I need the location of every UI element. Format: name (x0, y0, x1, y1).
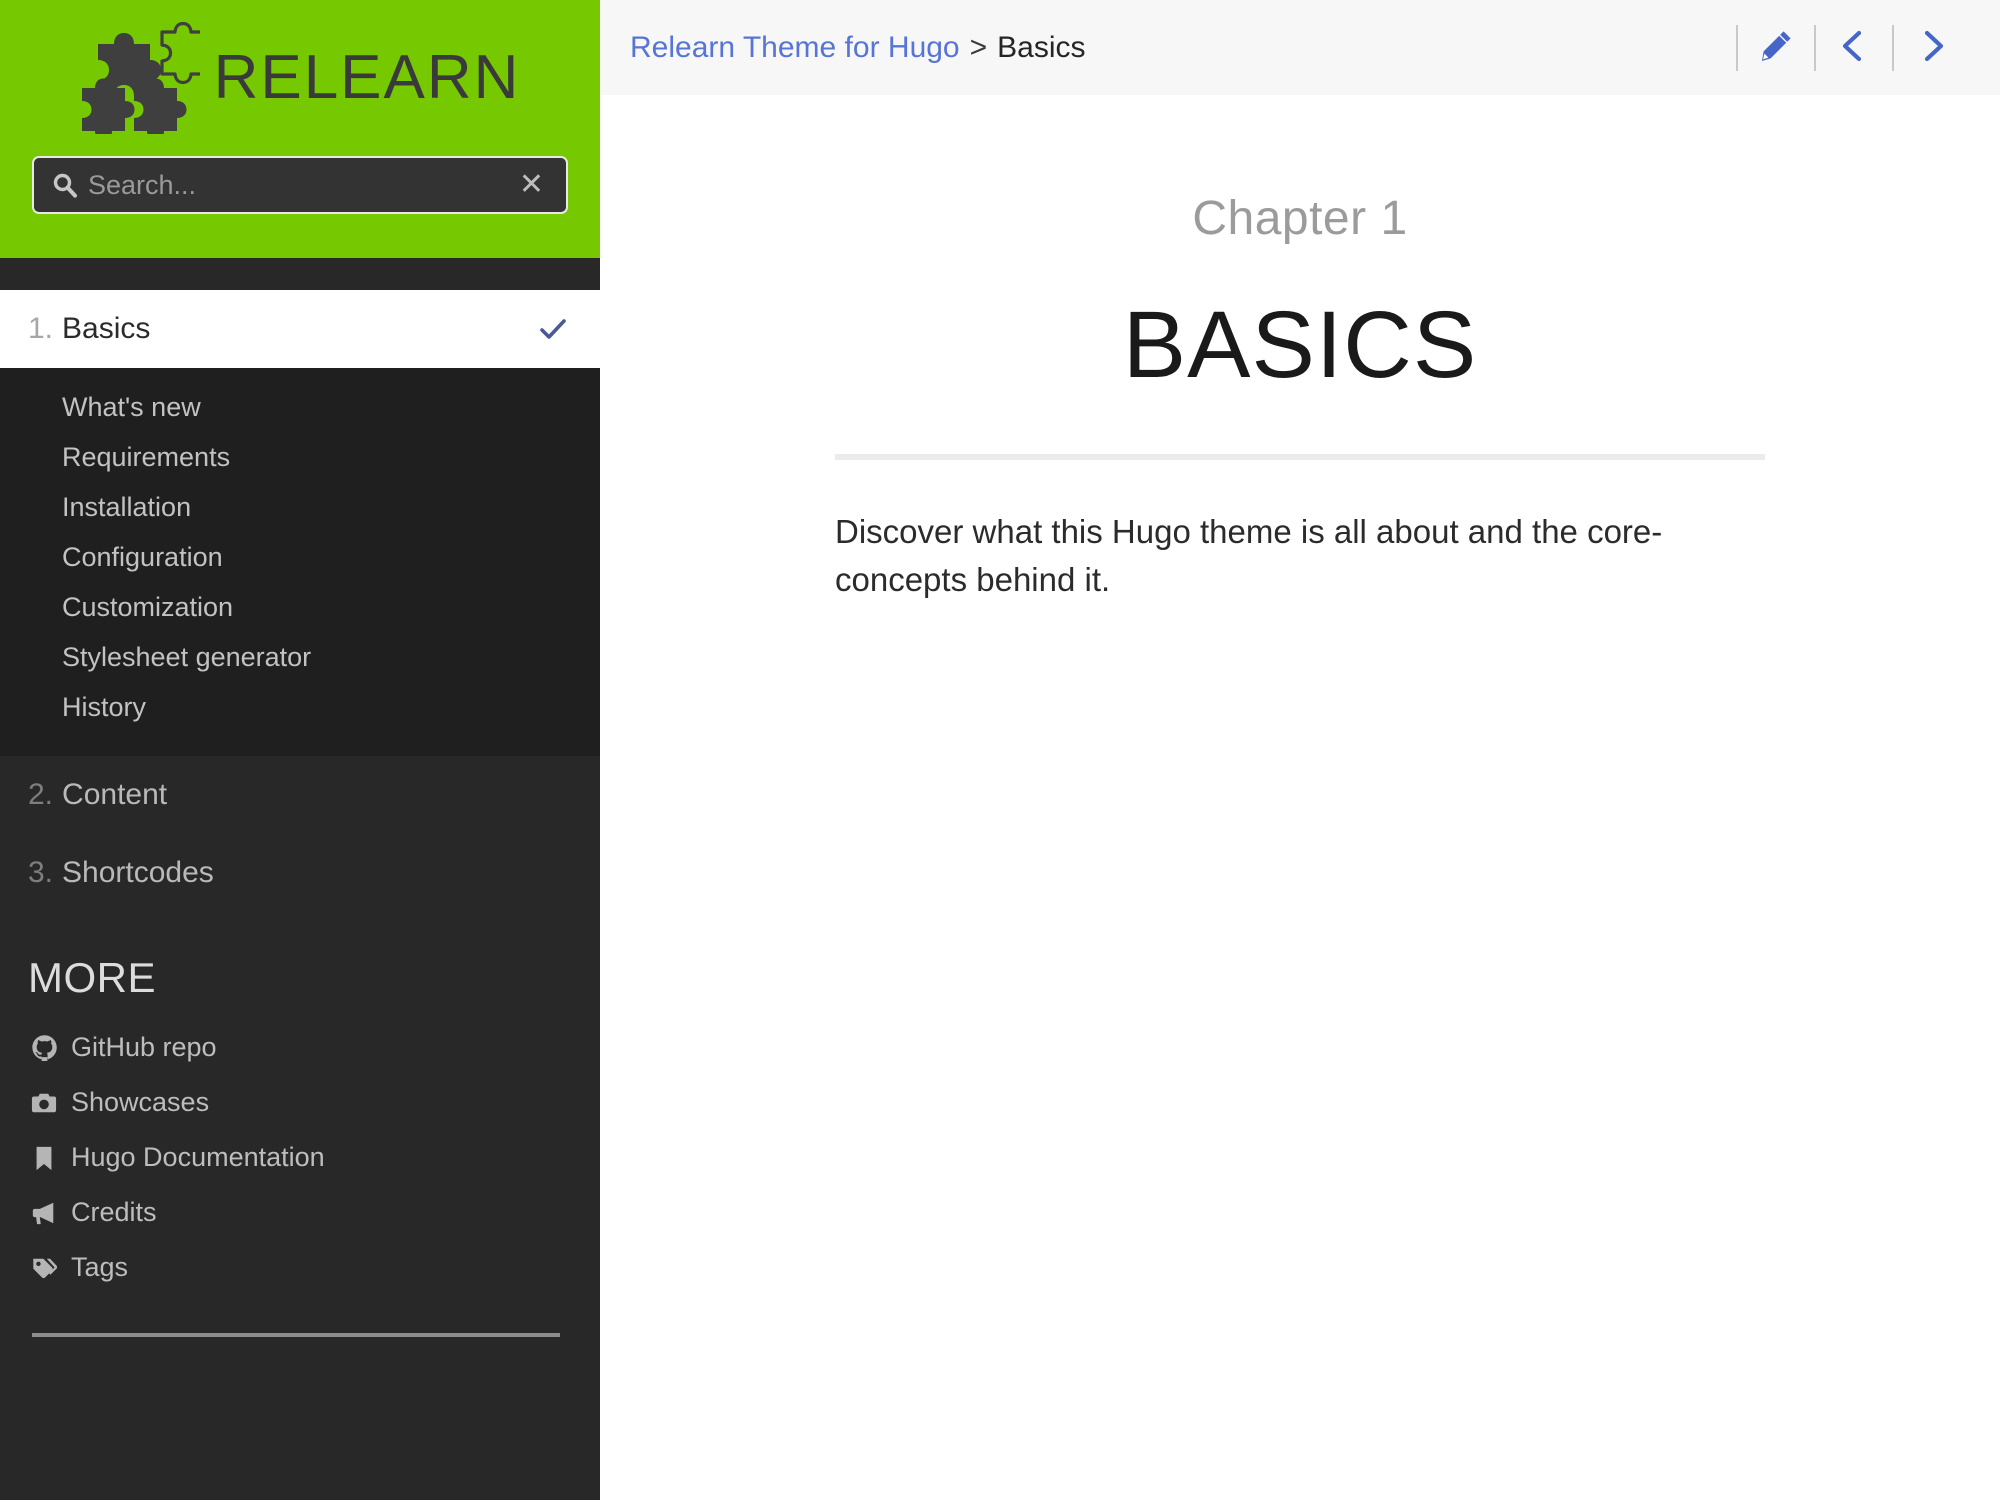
sidebar: RELEARN ✕ 1. (0, 0, 600, 1500)
breadcrumb-parent-link[interactable]: Relearn Theme for Hugo (630, 31, 960, 65)
submenu-label: Stylesheet generator (62, 642, 311, 673)
breadcrumb-current: Basics (997, 31, 1085, 65)
sidebar-link-credits[interactable]: Credits (0, 1185, 600, 1240)
main-region: Relearn Theme for Hugo > Basics (600, 0, 2000, 1500)
check-icon (538, 314, 568, 344)
next-page-button[interactable] (1894, 18, 1970, 78)
sidebar-item-installation[interactable]: Installation (0, 482, 600, 532)
topbar: Relearn Theme for Hugo > Basics (600, 0, 2000, 95)
brand-title: RELEARN (214, 47, 521, 109)
github-icon (30, 1034, 58, 1062)
sidebar-link-label: GitHub repo (71, 1032, 217, 1063)
prev-page-button[interactable] (1816, 18, 1892, 78)
submenu-basics: What's new Requirements Installation Con… (0, 368, 600, 756)
submenu-label: Requirements (62, 442, 230, 473)
sidebar-item-history[interactable]: History (0, 682, 600, 732)
breadcrumb-separator: > (970, 31, 988, 65)
sidebar-link-label: Tags (71, 1252, 128, 1283)
content-inner: Chapter 1 BASICS Discover what this Hugo… (835, 95, 1765, 604)
edit-page-button[interactable] (1738, 18, 1814, 78)
sidebar-item-shortcodes[interactable]: 3. Shortcodes (0, 834, 600, 912)
sidebar-item-requirements[interactable]: Requirements (0, 432, 600, 482)
puzzle-pieces-icon (80, 22, 200, 134)
camera-icon (30, 1089, 58, 1117)
sidebar-item-whats-new[interactable]: What's new (0, 382, 600, 432)
sidebar-link-label: Showcases (71, 1087, 209, 1118)
chapter-number: 1. (28, 312, 53, 346)
submenu-label: What's new (62, 392, 201, 423)
topbar-actions (1736, 18, 1970, 78)
sidebar-item-customization[interactable]: Customization (0, 582, 600, 632)
app-root: RELEARN ✕ 1. (0, 0, 2000, 1500)
sidebar-item-configuration[interactable]: Configuration (0, 532, 600, 582)
search-box[interactable]: ✕ (32, 156, 568, 214)
bookmark-icon (30, 1144, 58, 1172)
tag-icon (30, 1254, 58, 1282)
sidebar-divider (32, 1333, 560, 1337)
chapter-label: Content (62, 778, 167, 812)
sidebar-nav-spacer (0, 258, 600, 290)
sidebar-brand-header: RELEARN ✕ (0, 0, 600, 258)
breadcrumb: Relearn Theme for Hugo > Basics (630, 31, 1086, 65)
chapter-eyebrow: Chapter 1 (835, 193, 1765, 246)
sidebar-link-label: Credits (71, 1197, 157, 1228)
sidebar-link-showcases[interactable]: Showcases (0, 1075, 600, 1130)
chapter-number: 3. (28, 856, 53, 890)
submenu-label: Installation (62, 492, 191, 523)
search-container: ✕ (0, 156, 600, 214)
chapter-label: Basics (62, 312, 150, 346)
sidebar-item-content[interactable]: 2. Content (0, 756, 600, 834)
search-input[interactable] (88, 170, 515, 201)
chapter-number: 2. (28, 778, 53, 812)
page-title: BASICS (835, 296, 1765, 396)
sidebar-nav: 1. Basics What's new Requirements Instal… (0, 290, 600, 1500)
sidebar-item-basics[interactable]: 1. Basics (0, 290, 600, 368)
bullhorn-icon (30, 1199, 58, 1227)
pencil-icon (1759, 29, 1793, 66)
sidebar-link-github-repo[interactable]: GitHub repo (0, 1020, 600, 1075)
sidebar-item-stylesheet-generator[interactable]: Stylesheet generator (0, 632, 600, 682)
sidebar-link-label: Hugo Documentation (71, 1142, 325, 1173)
chevron-left-icon (1837, 29, 1871, 66)
content-area: Chapter 1 BASICS Discover what this Hugo… (600, 95, 2000, 1500)
brand-row[interactable]: RELEARN (0, 0, 600, 150)
chapter-label: Shortcodes (62, 856, 214, 890)
chevron-right-icon (1915, 29, 1949, 66)
search-icon (52, 172, 78, 198)
more-section-title: MORE (0, 912, 600, 1020)
submenu-label: History (62, 692, 146, 723)
submenu-label: Configuration (62, 542, 223, 573)
close-icon[interactable]: ✕ (515, 170, 548, 200)
sidebar-link-tags[interactable]: Tags (0, 1240, 600, 1295)
sidebar-link-hugo-documentation[interactable]: Hugo Documentation (0, 1130, 600, 1185)
submenu-label: Customization (62, 592, 233, 623)
page-description: Discover what this Hugo theme is all abo… (835, 508, 1765, 604)
content-divider (835, 454, 1765, 460)
